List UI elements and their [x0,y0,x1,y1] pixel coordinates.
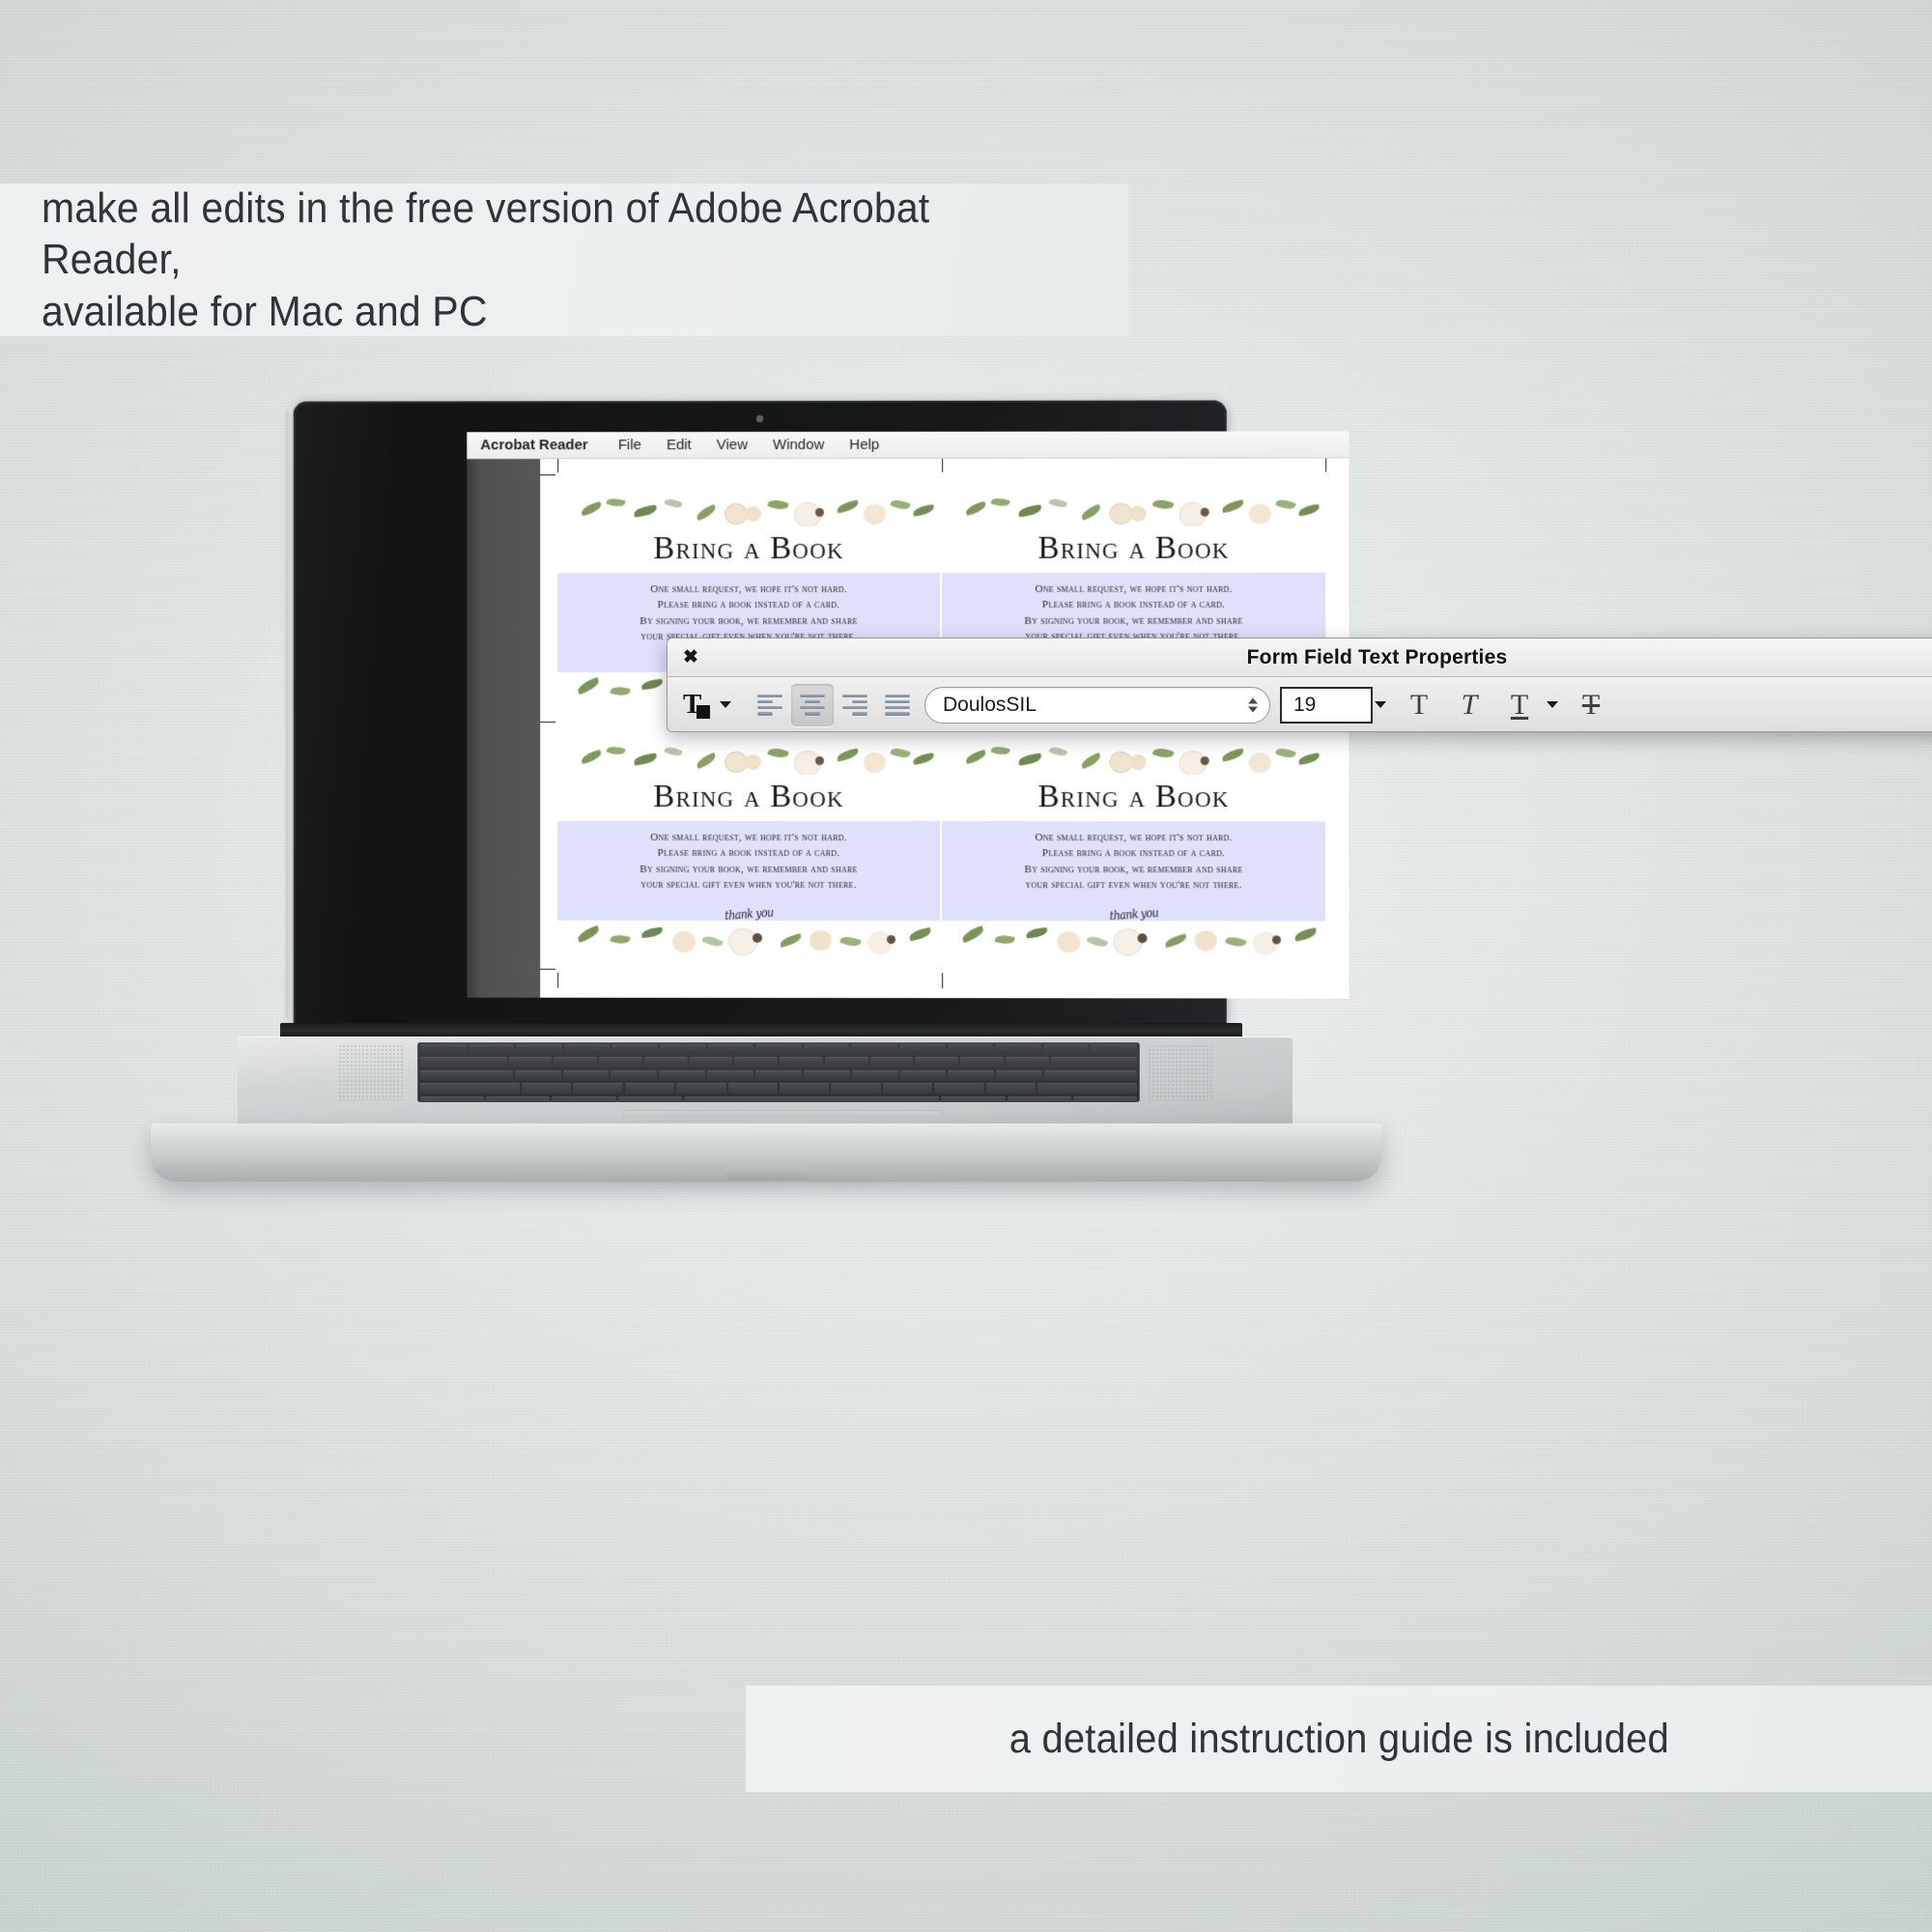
underline-button[interactable]: T [1494,683,1545,727]
caption-banner-bottom: a detailed instruction guide is included [746,1686,1932,1792]
card-line: Please bring a book instead of a card. [1042,597,1225,613]
font-size-value: 19 [1282,694,1316,717]
trackpad[interactable] [622,1110,941,1118]
laptop-mockup: Acrobat Reader File Edit View Window Hel… [145,401,1391,1232]
menu-item-acrobat-reader[interactable]: Acrobat Reader [480,438,605,452]
card-line: By signing your book, we remember and sh… [1024,862,1242,878]
keyboard-row [417,1068,1140,1082]
keyboard-row [417,1094,1140,1102]
align-justify-button[interactable] [876,684,919,726]
bold-button[interactable]: T [1394,683,1444,727]
card-title: Bring a Book [942,526,1325,573]
card-line: One small request, we hope it's not hard… [650,582,847,598]
font-family-value: DoulosSIL [925,694,1037,717]
card-line: your special gift even when you're not t… [640,877,857,894]
form-field-text[interactable]: One small request, we hope it's not hard… [942,821,1325,922]
card-line: One small request, we hope it's not hard… [1035,830,1232,846]
stepper-icon[interactable] [1248,697,1258,712]
webcam-icon [756,415,763,422]
menu-item-edit[interactable]: Edit [654,438,704,452]
dialog-title: Form Field Text Properties [668,646,1932,669]
speaker-grille-left [338,1044,404,1100]
caption-top-line-1: make all edits in the free version of Ad… [42,183,1052,286]
card-line: By signing your book, we remember and sh… [639,862,857,878]
card-line: By signing your book, we remember and sh… [639,613,857,630]
crop-mark [557,973,558,988]
caption-top-line-2: available for Mac and PC [42,286,1052,338]
menu-item-view[interactable]: View [704,438,760,452]
mac-menu-bar: Acrobat Reader File Edit View Window Hel… [467,431,1349,459]
font-size-chevron-down-icon[interactable] [1375,701,1386,708]
card-line: One small request, we hope it's not hard… [1035,581,1232,597]
floral-border-icon [942,921,1325,969]
card-line: One small request, we hope it's not hard… [650,830,847,846]
card-line: your special gift even when you're not t… [1025,878,1241,895]
base-notch [725,1169,810,1180]
crop-mark [540,722,555,723]
align-justify-icon [885,695,910,716]
mockup-canvas: make all edits in the free version of Ad… [0,0,1932,1932]
keyboard-row [417,1082,1140,1095]
form-field-text[interactable]: One small request, we hope it's not hard… [557,821,940,922]
align-right-button[interactable] [834,684,876,726]
form-field-text-properties-dialog[interactable]: ✖ Form Field Text Properties T [667,638,1932,732]
keyboard[interactable] [417,1042,1140,1102]
keyboard-row [417,1042,1140,1056]
dialog-toolbar: T [668,677,1932,732]
crop-mark [540,969,555,970]
reader-sidebar[interactable] [467,459,540,998]
card-line: Please bring a book instead of a card. [1042,845,1225,862]
keyboard-row [417,1056,1140,1069]
crop-mark [557,459,558,472]
font-family-select[interactable]: DoulosSIL [924,687,1270,724]
crop-mark [540,474,555,475]
text-tool-button[interactable]: T [675,684,718,726]
card-line: Please bring a book instead of a card. [658,845,840,862]
menu-item-file[interactable]: File [606,438,654,452]
card-title: Bring a Book [942,775,1325,821]
align-right-icon [842,695,867,716]
floral-border-icon [557,474,940,526]
menu-item-help[interactable]: Help [837,438,892,452]
floral-border-icon [942,473,1325,526]
align-center-button[interactable] [791,684,834,726]
caption-banner-top: make all edits in the free version of Ad… [0,184,1128,336]
menu-item-window[interactable]: Window [760,438,837,452]
caption-top-text: make all edits in the free version of Ad… [42,183,1052,338]
card: Bring a Book One small request, we hope … [557,723,940,969]
crop-mark [942,459,943,472]
underline-chevron-down-icon[interactable] [1547,701,1558,708]
card-title: Bring a Book [557,526,940,573]
crop-mark [1325,458,1326,471]
font-size-input[interactable]: 19 [1280,687,1373,724]
align-left-button[interactable] [749,684,791,726]
strikethrough-button[interactable]: T [1566,683,1616,727]
laptop-keyboard-deck [238,1037,1293,1125]
card-line: By signing your book, we remember and sh… [1024,613,1242,630]
caption-bottom-text: a detailed instruction guide is included [1009,1716,1668,1763]
chevron-down-icon[interactable] [720,701,731,708]
speaker-grille-right [1148,1044,1213,1100]
card: Bring a Book One small request, we hope … [942,723,1325,970]
card-line: Please bring a book instead of a card. [658,597,840,613]
floral-border-icon [557,921,940,969]
dialog-titlebar[interactable]: ✖ Form Field Text Properties [668,639,1932,677]
align-center-icon [800,695,825,716]
card-title: Bring a Book [557,775,940,821]
italic-button[interactable]: T [1444,683,1494,727]
text-tool-icon: T [683,692,710,719]
align-left-icon [757,695,782,716]
crop-mark [942,973,943,988]
